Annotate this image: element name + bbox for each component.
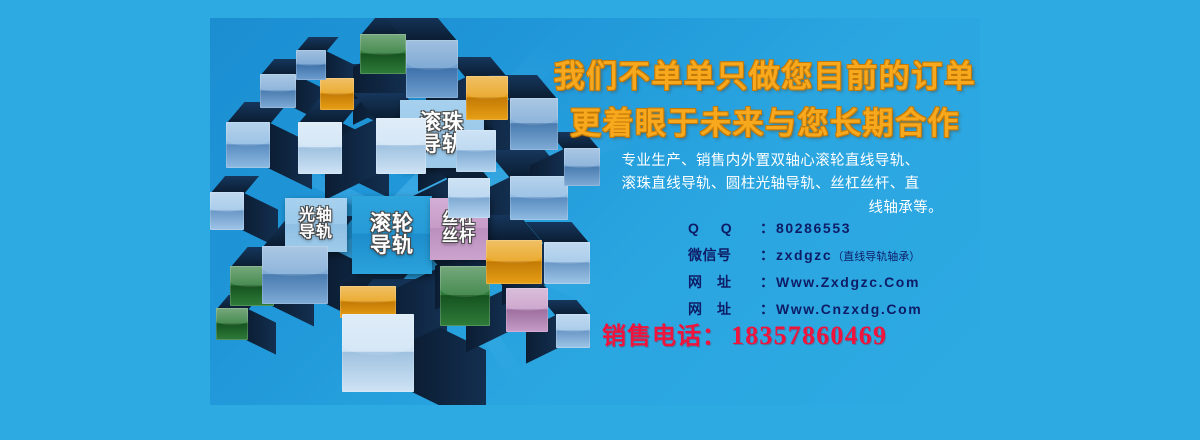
contact-separator: ： (760, 245, 774, 265)
cube-block (466, 76, 508, 120)
cube-front-face (510, 176, 568, 220)
cube-front-face (262, 246, 328, 304)
contact-value-qq[interactable]: 80286553 (776, 220, 851, 236)
cube-block (226, 122, 270, 168)
cube-block (342, 314, 414, 392)
product-tile-line-2: 导轨 (299, 225, 333, 242)
contact-value-website-2[interactable]: Www.Cnzxdg.Com (776, 301, 922, 317)
cube-front-face (456, 130, 496, 172)
cube-front-face (564, 148, 600, 186)
cube-front-face (298, 122, 342, 174)
sales-phone-row: 销售电话： 18357860469 (602, 316, 887, 351)
cube-block (544, 242, 590, 284)
cube-gloss-highlight (556, 314, 590, 332)
contact-label-wechat: 微信号 (688, 245, 760, 265)
subcopy-paragraph: 专业生产、销售内外置双轴心滚轮直线导轨、 滚珠直线导轨、圆柱光轴导轨、丝杠丝杆、… (598, 150, 943, 220)
cube-gloss-highlight (440, 266, 490, 297)
cube-extrusion (246, 308, 276, 355)
sales-phone-number[interactable]: 18357860469 (731, 321, 887, 351)
cube-front-face (510, 98, 558, 150)
cube-gloss-highlight (456, 130, 496, 152)
cube-block (296, 50, 326, 80)
cube-gloss-highlight (360, 34, 406, 55)
contact-block: Q Q ： 80286553 微信号 ： zxdgzc （直线导轨轴承） 网 址… (688, 218, 922, 326)
product-tile-guangzhou-daogui: 光轴 导轨 (285, 198, 347, 252)
cube-front-face (406, 40, 458, 98)
contact-row-website-1: 网 址 ： Www.Zxdgzc.Com (688, 272, 922, 292)
cube-front-face (556, 314, 590, 348)
headline-line-1: 我们不单单只做您目前的订单 (550, 51, 980, 96)
cube-block (298, 122, 342, 174)
cube-block (376, 118, 426, 174)
subcopy-line-2: 滚珠直线导轨、圆柱光轴导轨、丝杠丝杆、直 (598, 173, 943, 196)
product-tile-line-1: 滚轮 (370, 213, 414, 235)
product-tile-line-2: 丝杆 (442, 229, 476, 246)
product-tile-line-1: 光轴 (299, 208, 333, 225)
cube-block (320, 78, 354, 110)
cube-front-face (486, 240, 542, 284)
cube-front-face (342, 314, 414, 392)
contact-separator: ： (760, 272, 774, 292)
cube-gloss-highlight (510, 98, 558, 125)
cube-block (260, 74, 296, 108)
cube-gloss-highlight (564, 148, 600, 168)
contact-label-website-1: 网 址 (688, 272, 760, 292)
cube-gloss-highlight (406, 40, 458, 70)
banner-stage: 滚珠 导轨 光轴 导轨 滚轮 导轨 丝杠 丝杆 我们不单单只做您目前的订单 更着… (0, 0, 1200, 440)
cube-gloss-highlight (210, 192, 244, 212)
contact-value-website-1[interactable]: Www.Zxdgzc.Com (776, 274, 920, 290)
cube-front-face (376, 118, 426, 174)
cube-front-face (448, 178, 490, 218)
cube-block (448, 178, 490, 218)
cube-block (216, 308, 248, 340)
cube-gloss-highlight (448, 178, 490, 199)
cube-block (506, 288, 548, 332)
cube-block (262, 246, 328, 304)
text-column: 我们不单单只做您目前的订单 更着眼于未来与您长期合作 专业生产、销售内外置双轴心… (550, 18, 980, 405)
cube-front-face (226, 122, 270, 168)
contact-note-wechat: （直线导轨轴承） (832, 248, 920, 264)
banner-panel: 滚珠 导轨 光轴 导轨 滚轮 导轨 丝杠 丝杆 我们不单单只做您目前的订单 更着… (210, 18, 980, 405)
cube-front-face (296, 50, 326, 80)
contact-row-qq: Q Q ： 80286553 (688, 218, 922, 238)
cube-gloss-highlight (486, 240, 542, 263)
cube-front-face (260, 74, 296, 108)
cube-gloss-highlight (544, 242, 590, 264)
cube-gloss-highlight (320, 78, 354, 95)
cube-gloss-highlight (342, 314, 414, 355)
cube-front-face (544, 242, 590, 284)
cube-gloss-highlight (216, 308, 248, 325)
cube-gloss-highlight (262, 246, 328, 276)
contact-separator: ： (760, 218, 774, 238)
cube-gloss-highlight (340, 286, 396, 303)
contact-row-wechat: 微信号 ： zxdgzc （直线导轨轴承） (688, 245, 922, 265)
cube-gloss-highlight (298, 122, 342, 149)
cube-front-face (440, 266, 490, 326)
cube-front-face (506, 288, 548, 332)
cube-front-face (210, 192, 244, 230)
cube-block (510, 98, 558, 150)
product-tile-line-2: 导轨 (370, 235, 414, 257)
subcopy-line-1: 专业生产、销售内外置双轴心滚轮直线导轨、 (598, 150, 943, 173)
cube-gloss-highlight (226, 122, 270, 146)
cube-gloss-highlight (296, 50, 326, 66)
cube-block (486, 240, 542, 284)
cube-block (406, 40, 458, 98)
cube-block (564, 148, 600, 186)
headline-line-2: 更着眼于未来与您长期合作 (550, 98, 980, 143)
subcopy-line-3: 线轴承等。 (598, 197, 943, 220)
sales-phone-label: 销售电话： (602, 316, 727, 351)
cube-gloss-highlight (510, 176, 568, 199)
cube-gloss-highlight (466, 76, 508, 99)
cube-block (556, 314, 590, 348)
cube-block (440, 266, 490, 326)
contact-label-qq: Q Q (688, 220, 760, 236)
cube-gloss-highlight (260, 74, 296, 92)
cube-gloss-highlight (506, 288, 548, 311)
cube-front-face (320, 78, 354, 110)
cube-block (456, 130, 496, 172)
cube-block (510, 176, 568, 220)
cube-front-face (466, 76, 508, 120)
cube-block (360, 34, 406, 74)
product-tile-gunlun-daogui: 滚轮 导轨 (352, 196, 432, 274)
contact-value-wechat[interactable]: zxdgzc (776, 247, 832, 263)
cube-front-face (216, 308, 248, 340)
cube-block (210, 192, 244, 230)
cube-front-face (360, 34, 406, 74)
cube-gloss-highlight (376, 118, 426, 147)
